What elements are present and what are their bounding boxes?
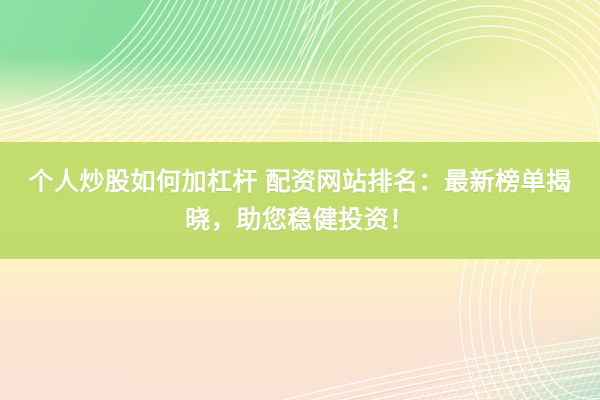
arc-pattern-top-left: [0, 0, 450, 142]
banner-headline: 个人炒股如何加杠杆 配资网站排名：最新榜单揭晓，助您稳健投资！: [0, 163, 600, 239]
banner-bottom-decoration: [0, 259, 600, 400]
headline-band: 个人炒股如何加杠杆 配资网站排名：最新榜单揭晓，助您稳健投资！: [0, 142, 600, 259]
promo-banner: 个人炒股如何加杠杆 配资网站排名：最新榜单揭晓，助您稳健投资！: [0, 0, 600, 400]
banner-top-decoration: [0, 0, 600, 142]
wave-pattern-bottom: [0, 299, 600, 400]
wave-pattern-top: [0, 22, 600, 142]
arc-pattern-bottom-right: [330, 259, 600, 400]
crosshatch-pattern-corner: [380, 319, 600, 400]
ripple-pattern-bottom-right: [200, 317, 600, 400]
arc-pattern-top-right: [300, 0, 600, 142]
